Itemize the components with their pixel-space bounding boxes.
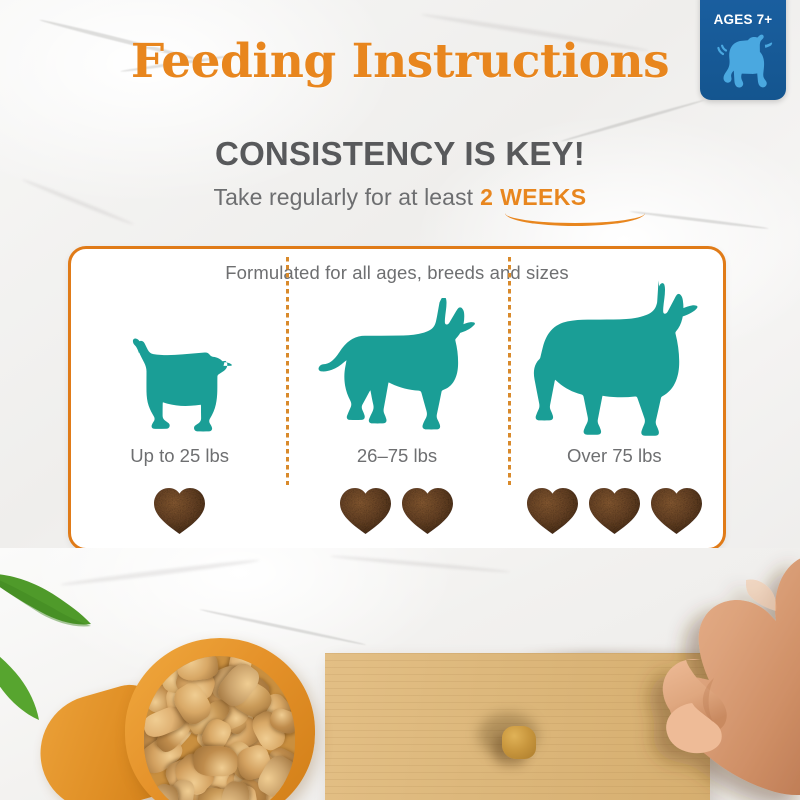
kibble-nugget bbox=[194, 746, 238, 777]
feeding-chart-card: Formulated for all ages, breeds and size… bbox=[68, 246, 726, 551]
kibble-row-small bbox=[71, 479, 288, 541]
sitting-dog-icon bbox=[714, 32, 776, 90]
kibble-heart-icon bbox=[399, 483, 456, 537]
kibble-row-medium bbox=[288, 479, 505, 541]
size-label-small: Up to 25 lbs bbox=[71, 445, 288, 467]
kibble-row-large bbox=[506, 479, 723, 541]
size-column-small[interactable]: Up to 25 lbs bbox=[71, 293, 288, 541]
kibble-heart-icon bbox=[337, 483, 394, 537]
tagline-underline-swoosh bbox=[505, 213, 645, 227]
infographic-root: Feeding Instructions AGES 7+ CONSISTENCY… bbox=[0, 0, 800, 800]
size-column-medium[interactable]: 26–75 lbs bbox=[288, 293, 505, 541]
kibble-heart-icon bbox=[524, 483, 581, 537]
hand bbox=[478, 540, 800, 800]
size-label-large: Over 75 lbs bbox=[506, 445, 723, 467]
green-leaf-icon bbox=[0, 572, 107, 642]
size-label-medium: 26–75 lbs bbox=[288, 445, 505, 467]
medium-dog-slot bbox=[288, 293, 505, 438]
small-dog-slot bbox=[71, 293, 288, 438]
tagline-highlight: 2 WEEKS bbox=[480, 184, 586, 210]
size-columns: Up to 25 lbs bbox=[71, 293, 723, 541]
large-dog-silhouette-icon bbox=[521, 278, 707, 438]
kibble-heart-icon bbox=[648, 483, 705, 537]
kibble-heart-icon bbox=[586, 483, 643, 537]
small-dog-silhouette-icon bbox=[114, 338, 246, 438]
kibble-pile bbox=[144, 656, 295, 800]
kibble-heart-icon bbox=[151, 483, 208, 537]
tagline-prefix: Take regularly for at least bbox=[214, 184, 474, 210]
size-column-large[interactable]: Over 75 lbs bbox=[506, 293, 723, 541]
subtitle: CONSISTENCY IS KEY! bbox=[0, 135, 800, 173]
large-dog-slot bbox=[506, 293, 723, 438]
ages-badge: AGES 7+ bbox=[700, 0, 786, 100]
medium-dog-silhouette-icon bbox=[313, 298, 481, 438]
page-title: Feeding Instructions bbox=[0, 34, 800, 89]
ages-badge-label: AGES 7+ bbox=[700, 12, 786, 27]
tagline: Take regularly for at least2 WEEKS bbox=[0, 184, 800, 211]
